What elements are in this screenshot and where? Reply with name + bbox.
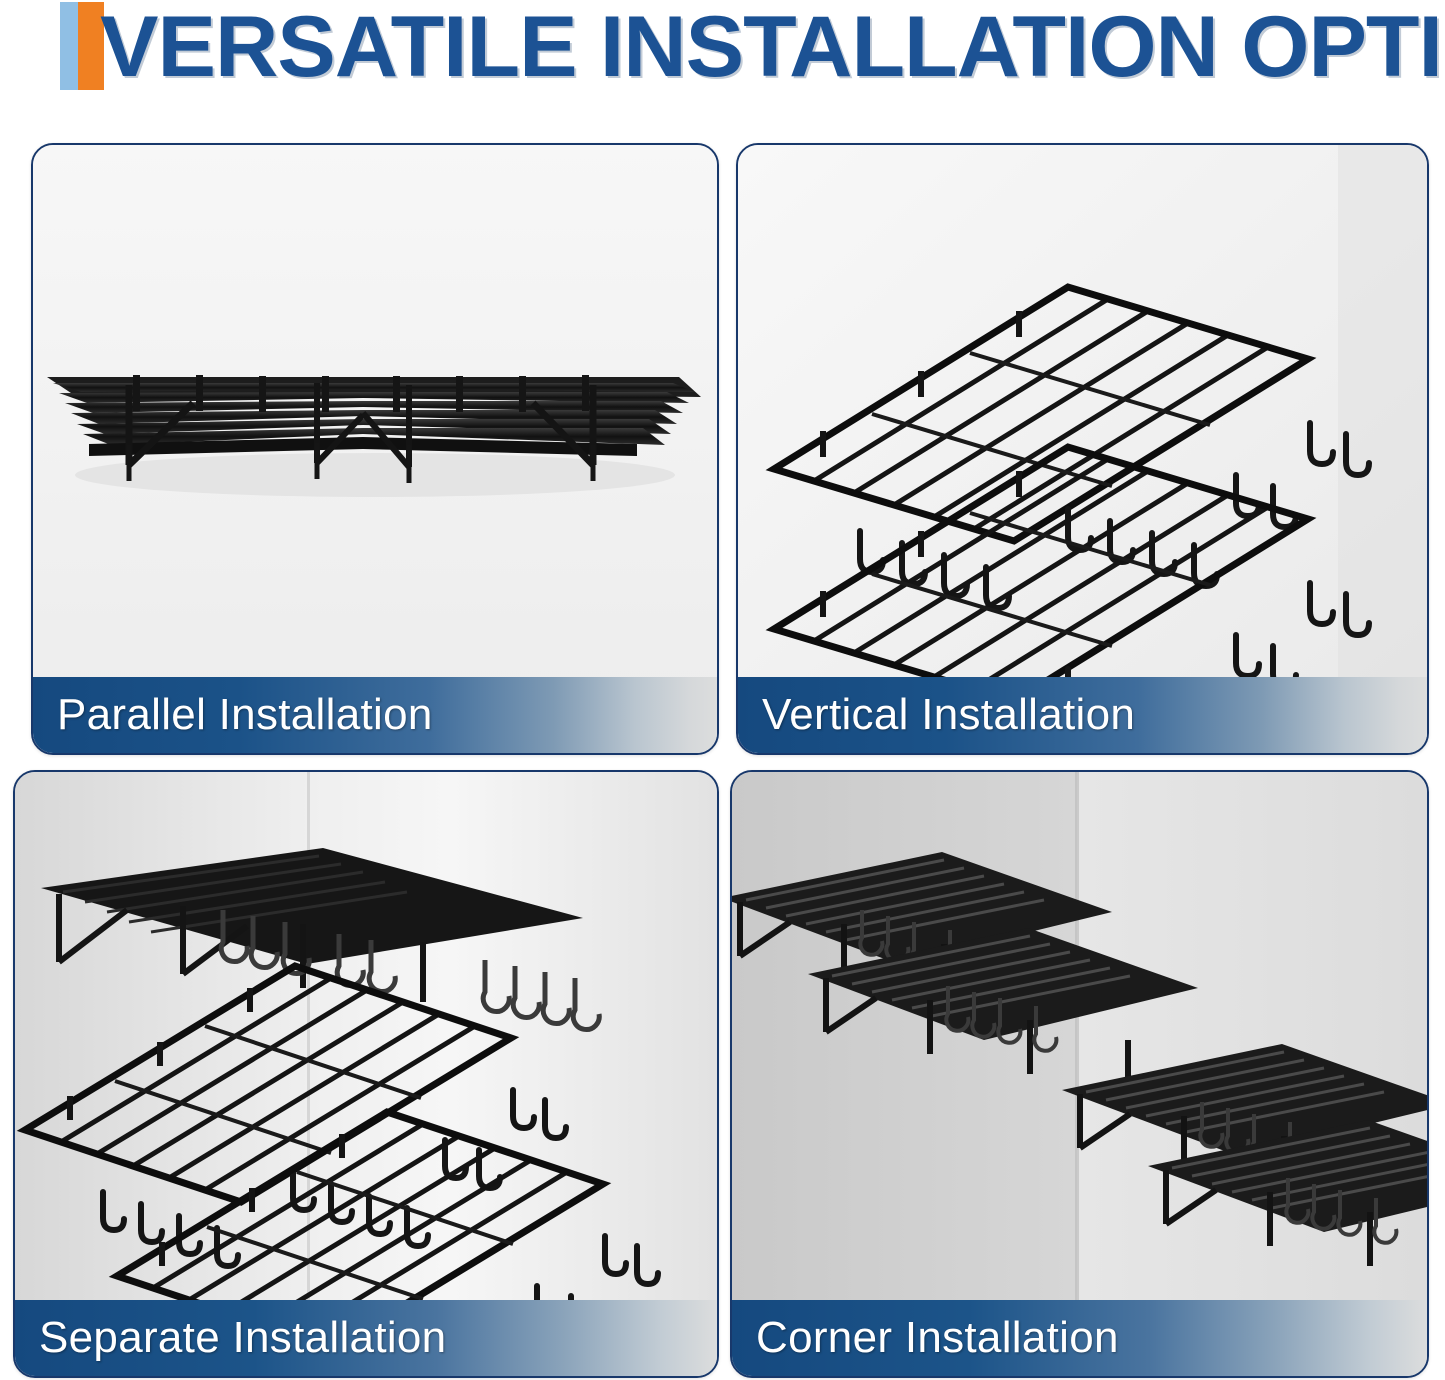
- label-corner-installation: Corner Installation: [732, 1313, 1119, 1363]
- panel-parallel-installation: Parallel Installation: [31, 143, 719, 755]
- panel-separate-installation: Separate Installation: [13, 770, 719, 1378]
- photo-separate-installation: [15, 772, 717, 1376]
- page-title: VERSATILE INSTALLATION OPTIONS: [100, 1, 1445, 93]
- photo-parallel-installation: [33, 145, 717, 753]
- photo-vertical-installation: [738, 145, 1427, 753]
- photo-corner-installation: [732, 772, 1427, 1376]
- label-separate-installation: Separate Installation: [15, 1313, 446, 1363]
- label-bar-vertical: Vertical Installation: [738, 677, 1427, 753]
- label-parallel-installation: Parallel Installation: [33, 690, 433, 740]
- label-bar-corner: Corner Installation: [732, 1300, 1427, 1376]
- label-bar-parallel: Parallel Installation: [33, 677, 717, 753]
- label-vertical-installation: Vertical Installation: [738, 690, 1135, 740]
- label-bar-separate: Separate Installation: [15, 1300, 717, 1376]
- panel-corner-installation: Corner Installation: [730, 770, 1429, 1378]
- page-header: VERSATILE INSTALLATION OPTIONS: [0, 0, 1445, 108]
- panel-vertical-installation: Vertical Installation: [736, 143, 1429, 755]
